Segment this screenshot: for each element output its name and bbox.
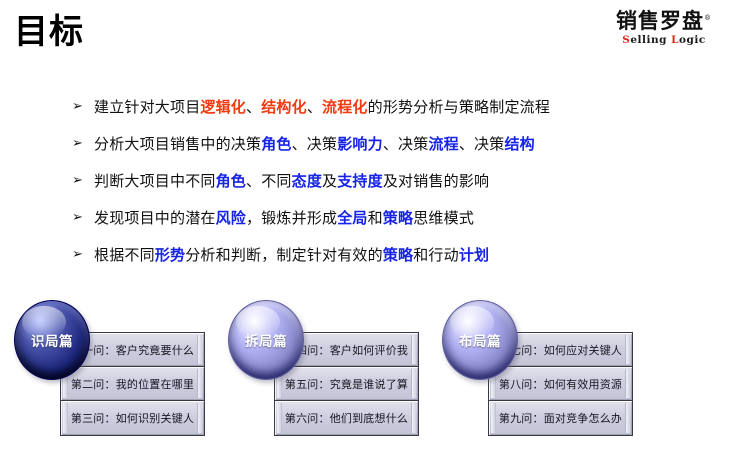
objective-item: ➢建立针对大项目逻辑化、结构化、流程化的形势分析与策略制定流程 [72,96,672,133]
question-row[interactable]: 第三问：如何识别关键人 [61,401,204,435]
objective-text: 发现项目中的潜在风险，锻炼并形成全局和策略思维模式 [94,207,474,229]
row-bevel-right [197,335,202,364]
objective-text-segment: 结构化 [261,98,307,116]
row-bevel-left [491,403,496,433]
objective-text-segment: ，锻炼并形成 [246,209,337,227]
brand-logo: 销售罗盘® Selling Logic [604,6,724,52]
objective-text-segment: 建立针对大项目 [94,98,200,116]
nine-questions-section: 第一问：客户究竟要什么第二问：我的位置在哪里第三问：如何识别关键人识局篇第四问：… [0,300,734,462]
question-label: 第五问：究竟是谁说了算 [285,376,408,392]
objective-item: ➢发现项目中的潜在风险，锻炼并形成全局和策略思维模式 [72,207,672,244]
objective-text-segment: 、不同 [246,172,292,190]
objective-text-segment: 流程化 [322,98,368,116]
objective-text-segment: 判断大项目中不同 [94,172,216,190]
question-group: 第七问：如何应对关键人第八问：如何有效用资源第九问：面对竞争怎么办布局篇 [442,300,662,462]
badge-label: 布局篇 [459,330,501,350]
objective-text-segment: 的形势分析与策略制定流程 [368,98,550,116]
bullet-arrow-icon: ➢ [72,133,94,155]
objective-text-segment: 分析和判断，制定针对有效的 [185,246,383,264]
page-title: 目标 [14,10,84,54]
objective-text-segment: 计划 [459,246,489,264]
question-label: 第六问：他们到底想什么 [285,410,408,426]
question-row[interactable]: 第六问：他们到底想什么 [275,401,418,435]
question-row[interactable]: 第五问：究竟是谁说了算 [275,367,418,401]
objective-text-segment: 策略 [383,209,413,227]
objective-text-segment: 及对销售的影响 [383,172,489,190]
row-bevel-right [625,335,630,364]
objective-text-segment: 支持度 [337,172,383,190]
question-group-badge[interactable]: 拆局篇 [228,300,304,380]
objective-text-segment: 、决策 [383,135,429,153]
question-group-badge[interactable]: 布局篇 [442,300,518,380]
badge-label: 识局篇 [31,330,73,350]
objective-text-segment: 风险 [216,209,246,227]
objective-text-segment: 、决策 [459,135,505,153]
row-bevel-left [277,403,282,433]
objective-item: ➢根据不同形势分析和判断，制定针对有效的策略和行动计划 [72,244,672,281]
objective-text: 分析大项目销售中的决策角色、决策影响力、决策流程、决策结构 [94,133,535,155]
question-group: 第一问：客户究竟要什么第二问：我的位置在哪里第三问：如何识别关键人识局篇 [14,300,234,462]
objective-text-segment: 流程 [428,135,458,153]
objective-text-segment: 策略 [383,246,413,264]
slide-canvas: 目标 销售罗盘® Selling Logic ➢建立针对大项目逻辑化、结构化、流… [0,0,734,462]
objective-text-segment: 角色 [261,135,291,153]
objective-text: 建立针对大项目逻辑化、结构化、流程化的形势分析与策略制定流程 [94,96,550,118]
row-bevel-right [411,335,416,364]
objective-text: 判断大项目中不同角色、不同态度及支持度及对销售的影响 [94,170,489,192]
question-group: 第四问：客户如何评价我第五问：究竟是谁说了算第六问：他们到底想什么拆局篇 [228,300,448,462]
question-row[interactable]: 第二问：我的位置在哪里 [61,367,204,401]
row-bevel-right [625,403,630,433]
objective-text-segment: 全局 [337,209,367,227]
objective-text: 根据不同形势分析和判断，制定针对有效的策略和行动计划 [94,244,489,266]
objective-text-segment: 分析大项目销售中的决策 [94,135,261,153]
bullet-arrow-icon: ➢ [72,207,94,229]
objective-text-segment: 、 [307,98,322,116]
row-bevel-left [63,403,68,433]
bullet-arrow-icon: ➢ [72,96,94,118]
question-row[interactable]: 第八问：如何有效用资源 [489,367,632,401]
row-bevel-right [411,403,416,433]
registered-trademark-icon: ® [704,14,712,22]
question-label: 第三问：如何识别关键人 [71,410,194,426]
row-bevel-right [197,369,202,398]
objective-text-segment: 逻辑化 [200,98,246,116]
objective-text-segment: 态度 [292,172,322,190]
question-row[interactable]: 第九问：面对竞争怎么办 [489,401,632,435]
row-bevel-right [197,403,202,433]
question-group-badge[interactable]: 识局篇 [14,300,90,380]
badge-label: 拆局篇 [245,330,287,350]
objective-text-segment: 形势 [155,246,185,264]
objectives-list: ➢建立针对大项目逻辑化、结构化、流程化的形势分析与策略制定流程➢分析大项目销售中… [72,96,672,281]
objective-text-segment: 发现项目中的潜在 [94,209,216,227]
objective-item: ➢判断大项目中不同角色、不同态度及支持度及对销售的影响 [72,170,672,207]
logo-chinese-text: 销售罗盘 [616,8,704,33]
logo-english-wordmark: Selling Logic [604,34,724,47]
objective-text-segment: 影响力 [337,135,383,153]
objective-text-segment: 和行动 [413,246,459,264]
objective-text-segment: 根据不同 [94,246,155,264]
objective-text-segment: 角色 [216,172,246,190]
objective-text-segment: 结构 [504,135,534,153]
row-bevel-right [411,369,416,398]
row-bevel-right [625,369,630,398]
question-label: 第八问：如何有效用资源 [499,376,622,392]
question-label: 第二问：我的位置在哪里 [71,376,194,392]
objective-text-segment: 思维模式 [413,209,474,227]
objective-text-segment: 、决策 [292,135,338,153]
objective-item: ➢分析大项目销售中的决策角色、决策影响力、决策流程、决策结构 [72,133,672,170]
logo-chinese-wordmark: 销售罗盘® [616,6,712,33]
bullet-arrow-icon: ➢ [72,170,94,192]
logo-en-ogic: ogic [679,34,706,46]
bullet-arrow-icon: ➢ [72,244,94,266]
objective-text-segment: 、 [246,98,261,116]
objective-text-segment: 和 [368,209,383,227]
logo-en-elling: elling [630,34,667,46]
logo-en-l: L [671,34,679,46]
objective-text-segment: 及 [322,172,337,190]
question-label: 第九问：面对竞争怎么办 [499,410,622,426]
